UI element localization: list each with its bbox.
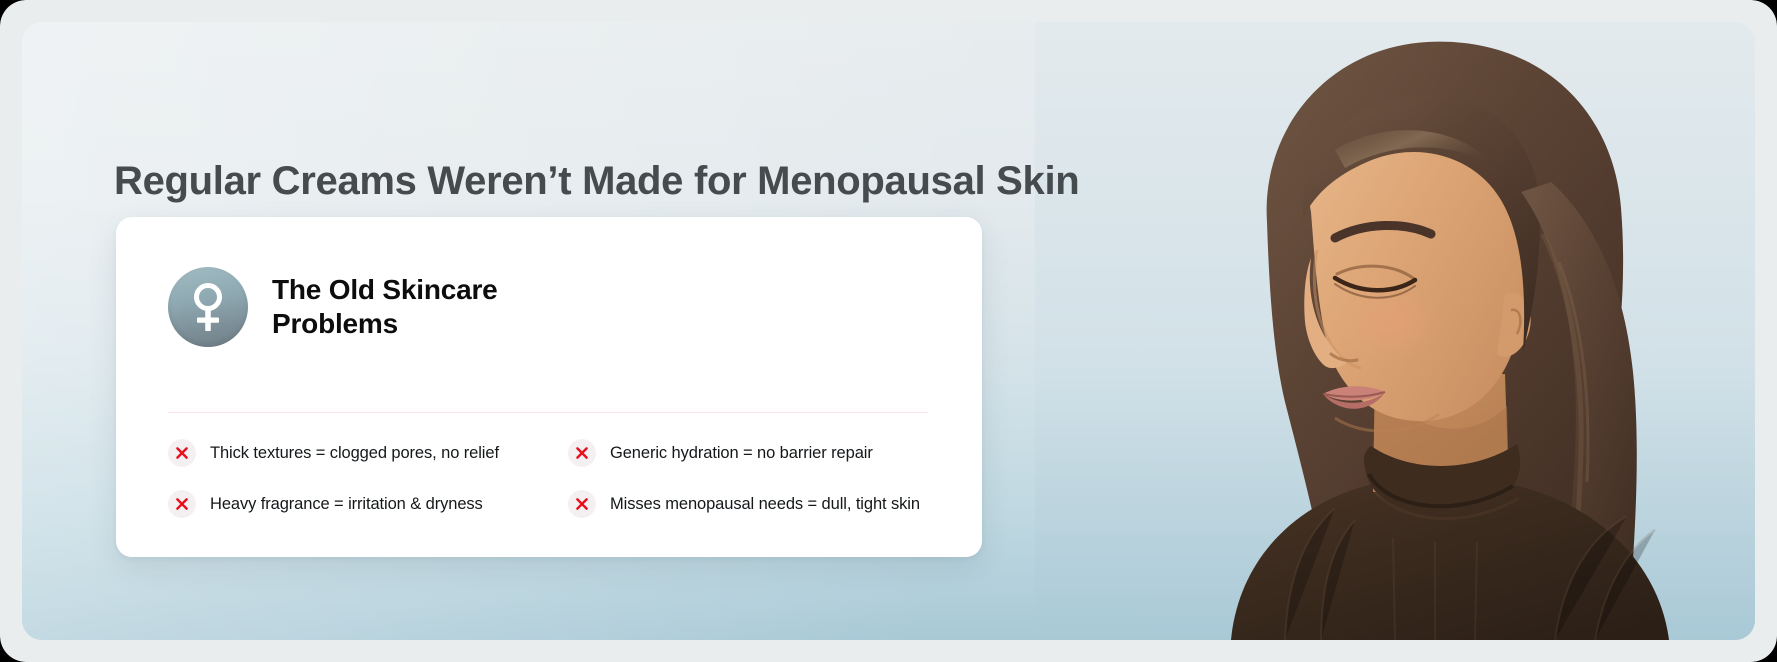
device-frame: Regular Creams Weren’t Made for Menopaus… [0, 0, 1777, 662]
list-item: Heavy fragrance = irritation & dryness [168, 490, 568, 518]
page-surface: Regular Creams Weren’t Made for Menopaus… [0, 0, 1777, 662]
list-item-label: Thick textures = clogged pores, no relie… [210, 444, 499, 463]
list-item: Misses menopausal needs = dull, tight sk… [568, 490, 958, 518]
portrait-image [1035, 22, 1755, 640]
list-item: Generic hydration = no barrier repair [568, 439, 958, 467]
venus-female-symbol-icon [168, 267, 248, 347]
list-item: Thick textures = clogged pores, no relie… [168, 439, 568, 467]
red-x-icon [568, 490, 596, 518]
red-x-icon [568, 439, 596, 467]
red-x-icon [168, 439, 196, 467]
card-title: The Old Skincare Problems [272, 273, 552, 341]
problems-list: Thick textures = clogged pores, no relie… [168, 439, 958, 518]
list-item-label: Generic hydration = no barrier repair [610, 444, 873, 463]
hero-banner: Regular Creams Weren’t Made for Menopaus… [22, 22, 1755, 640]
red-x-icon [168, 490, 196, 518]
page-title: Regular Creams Weren’t Made for Menopaus… [114, 159, 1079, 204]
card-header: The Old Skincare Problems [168, 267, 552, 347]
list-item-label: Heavy fragrance = irritation & dryness [210, 495, 483, 514]
card-divider [168, 412, 928, 413]
old-skincare-problems-card: The Old Skincare Problems Thick textures… [116, 217, 982, 557]
list-item-label: Misses menopausal needs = dull, tight sk… [610, 495, 920, 514]
